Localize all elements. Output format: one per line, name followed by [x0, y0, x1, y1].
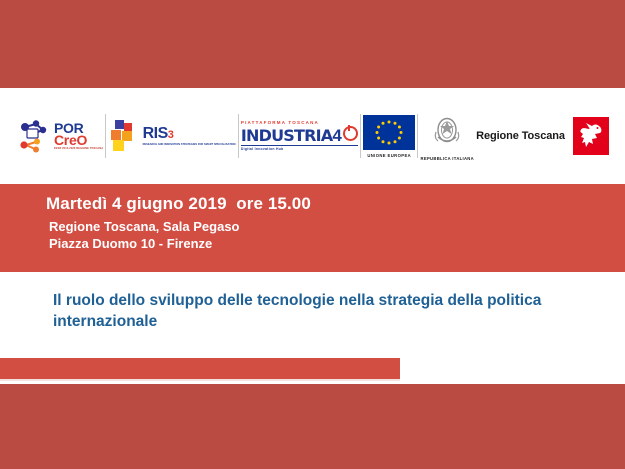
por-creo-network-icon — [16, 119, 52, 153]
repubblica-italiana-label: REPUBBLICA ITALIANA — [421, 156, 474, 161]
industria-40-tagline: Digital Innovation Hub — [241, 148, 284, 151]
logo-regione-toscana: Regione Toscana — [476, 117, 609, 155]
logo-por-creo: POR CreO FESR 2014-2020 REGIONE TOSCANA — [16, 119, 103, 153]
industria-40-word: INDUSTRIA — [241, 128, 333, 144]
italian-republic-emblem-icon — [432, 112, 462, 153]
logo-ris3: RIS3 RESEARCH AND INNOVATION STRATEGIES … — [109, 119, 236, 153]
bottom-red-band — [0, 384, 625, 469]
ris3-cubes-icon — [109, 119, 141, 153]
ris3-subtitle: RESEARCH AND INNOVATION STRATEGIES FOR S… — [143, 143, 236, 146]
event-title: Il ruolo dello sviluppo delle tecnologie… — [53, 291, 573, 333]
event-venue: Regione Toscana, Sala Pegaso — [49, 219, 311, 234]
industria-40-zero-icon — [343, 126, 358, 141]
industria-40-wordmark: INDUSTRIA 4 — [241, 126, 358, 146]
ris3-superscript: 3 — [168, 129, 174, 141]
pegasus-icon — [573, 117, 609, 155]
regione-toscana-label: Regione Toscana — [476, 130, 565, 142]
logo-separator — [105, 114, 106, 158]
event-address: Piazza Duomo 10 - Firenze — [49, 236, 311, 251]
logo-repubblica-italiana: REPUBBLICA ITALIANA — [421, 112, 474, 161]
top-red-band — [0, 0, 625, 88]
event-poster: POR CreO FESR 2014-2020 REGIONE TOSCANA — [0, 0, 625, 469]
logo-separator — [417, 114, 418, 158]
logo-industria-40: PIATTAFORMA TOSCANA INDUSTRIA 4 Digital … — [241, 121, 358, 151]
logo-unione-europea: UNIONE EUROPEA — [363, 115, 415, 158]
logo-separator — [238, 114, 239, 158]
logo-strip: POR CreO FESR 2014-2020 REGIONE TOSCANA — [0, 88, 625, 184]
industria-40-version: 4 — [332, 127, 341, 144]
eu-label: UNIONE EUROPEA — [367, 153, 411, 158]
por-creo-line2: CreO — [54, 134, 103, 146]
logo-separator — [360, 114, 361, 158]
ris3-wordmark: RIS3 — [143, 126, 236, 142]
event-date-block: Martedì 4 giugno 2019 ore 15.00 Regione … — [46, 194, 311, 251]
event-date: Martedì 4 giugno 2019 ore 15.00 — [46, 194, 311, 214]
por-creo-subtitle: FESR 2014-2020 REGIONE TOSCANA — [54, 148, 103, 150]
eu-flag-icon — [363, 115, 415, 150]
accent-red-bar — [0, 358, 400, 381]
